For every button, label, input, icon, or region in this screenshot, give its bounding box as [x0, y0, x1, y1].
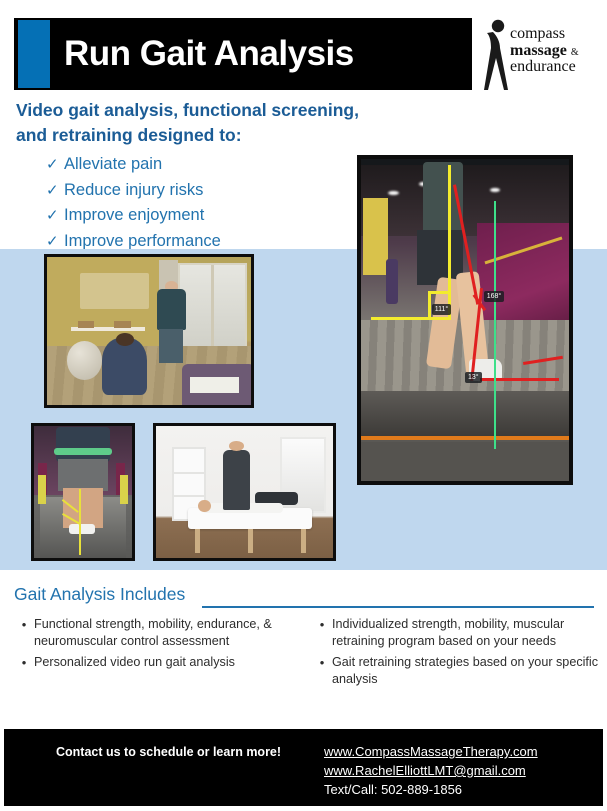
angle-badge-13: 13° [465, 372, 482, 383]
footer: Contact us to schedule or learn more! ww… [4, 729, 603, 806]
includes-column-right: • Individualized strength, mobility, mus… [312, 616, 598, 692]
includes-columns: • Functional strength, mobility, enduran… [14, 616, 599, 692]
list-item-label: Personalized video run gait analysis [34, 654, 235, 671]
benefit-label: Reduce injury risks [64, 178, 203, 203]
list-item: • Functional strength, mobility, enduran… [14, 616, 300, 650]
footer-contact: www.CompassMassageTherapy.com www.Rachel… [324, 742, 538, 799]
website-link[interactable]: www.CompassMassageTherapy.com [324, 742, 538, 761]
list-item: • Personalized video run gait analysis [14, 654, 300, 671]
logo-wordmark: compass massage & endurance [510, 26, 606, 76]
treadmill-rear-view-gait-photo [31, 423, 135, 561]
includes-column-left: • Functional strength, mobility, enduran… [14, 616, 300, 692]
bullet-icon: • [14, 654, 34, 671]
page-title: Run Gait Analysis [64, 28, 454, 84]
bullet-icon: • [14, 616, 34, 633]
angle-badge-111: 111° [432, 304, 451, 315]
runner-figure-icon [478, 18, 512, 92]
includes-section: Gait Analysis Includes • Functional stre… [0, 574, 607, 729]
check-icon: ✓ [46, 153, 64, 178]
includes-heading: Gait Analysis Includes [14, 584, 185, 605]
massage-table-assessment-photo [153, 423, 336, 561]
list-item-label: Gait retraining strategies based on your… [332, 654, 598, 688]
bullet-icon: • [312, 616, 332, 633]
benefit-label: Alleviate pain [64, 152, 162, 177]
title-accent-block [18, 20, 50, 88]
includes-heading-rule [202, 606, 594, 608]
header: Run Gait Analysis compass massage & endu… [0, 0, 607, 98]
list-item-label: Individualized strength, mobility, muscu… [332, 616, 598, 650]
phone-text: Text/Call: 502-889-1856 [324, 780, 538, 799]
intro-line-1: Video gait analysis, functional screenin… [16, 98, 436, 123]
logo-line-compass: compass [510, 26, 606, 43]
logo-line-endurance: endurance [510, 59, 606, 76]
footer-cta: Contact us to schedule or learn more! [56, 745, 281, 759]
list-item: • Gait retraining strategies based on yo… [312, 654, 598, 688]
logo-ampersand: & [571, 47, 579, 58]
list-item: • Individualized strength, mobility, mus… [312, 616, 598, 650]
clinic-functional-screening-photo [44, 254, 254, 408]
logo-line-massage: massage & [510, 43, 606, 60]
intro-line-2: and retraining designed to: [16, 123, 436, 148]
brand-logo: compass massage & endurance [478, 14, 602, 94]
check-icon: ✓ [46, 179, 64, 204]
check-icon: ✓ [46, 204, 64, 229]
bullet-icon: • [312, 654, 332, 671]
email-link[interactable]: www.RachelElliottLMT@gmail.com [324, 761, 538, 780]
main-gait-video-analysis-photo: 111° 168° 13° [357, 155, 573, 485]
angle-badge-168: 168° [484, 291, 504, 302]
list-item-label: Functional strength, mobility, endurance… [34, 616, 300, 650]
flyer-page: Run Gait Analysis compass massage & endu… [0, 0, 607, 811]
benefit-label: Improve enjoyment [64, 203, 204, 228]
